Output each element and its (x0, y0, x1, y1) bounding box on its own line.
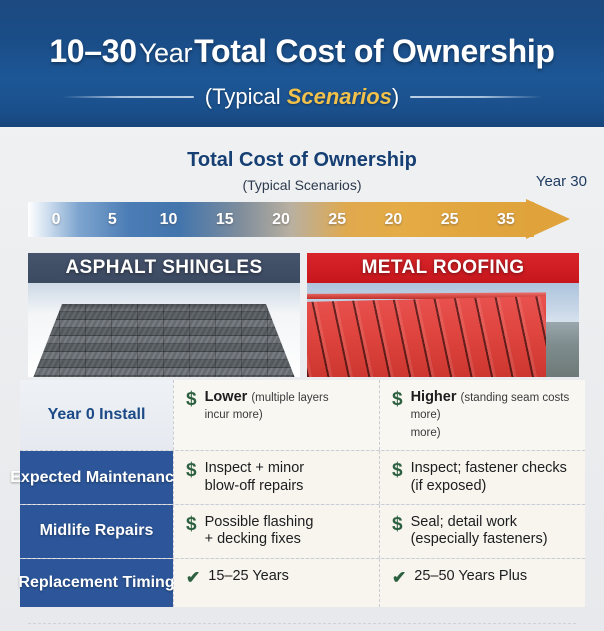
banner-subtitle-row: (Typical Scenarios) (0, 84, 604, 110)
check-mark-icon: ✔ (186, 568, 200, 588)
cost-timeline-arrow: 0 5 10 15 20 25 20 25 35 (28, 199, 588, 240)
title-year-word: Year (137, 38, 194, 68)
banner-subtitle: (Typical Scenarios) (205, 84, 399, 110)
cell-line-2: + decking fixes (205, 531, 301, 547)
cell-metal-expected-maintenance: $ Inspect; fastener checks(if exposed) (379, 451, 585, 504)
check-mark-icon: ✔ (392, 568, 406, 588)
cell-line-1: Seal; detail work (411, 514, 517, 530)
panel-metal: METAL ROOFING (307, 253, 579, 377)
tick-value: 25 (422, 211, 478, 229)
title-year-range: 10–30 (49, 33, 137, 69)
cell-line-2: (if exposed) (411, 478, 487, 494)
cell-text: 25–50 Years Plus (414, 568, 527, 585)
table-row: Expected Maintenance $ Inspect + minorbl… (20, 451, 585, 505)
label-line-1: Midlife (40, 522, 91, 540)
label-line-2: Maintenance (86, 469, 183, 487)
bottom-divider (28, 622, 576, 624)
comparison-table: Year 0 Install $ Lower (multiple layersi… (20, 380, 585, 607)
cell-text: 15–25 Years (208, 568, 289, 585)
section-subtitle: (Typical Scenarios) (0, 177, 604, 193)
shingle-roof-surface (33, 304, 294, 377)
cell-metal-year-0-install: $ Higher (standing seam costs more)more) (379, 380, 585, 450)
dollar-sign-icon: $ (392, 389, 403, 411)
tick-value: 15 (197, 211, 253, 229)
cell-emphasis: Lower (205, 389, 248, 405)
subtitle-open: (Typical (205, 84, 287, 109)
tick-value: 35 (478, 211, 534, 229)
panel-asphalt: ASPHALT SHINGLES (28, 253, 300, 377)
row-label-year-0-install: Year 0 Install (20, 380, 173, 450)
header-banner: 10–30YearTotal Cost of Ownership (Typica… (0, 0, 604, 127)
metal-roof-surface (307, 296, 546, 377)
cell-note-2: more) (411, 427, 441, 439)
timeline-tick-labels: 0 5 10 15 20 25 20 25 35 (28, 202, 534, 237)
cell-text: Inspect + minorblow-off repairs (205, 460, 305, 495)
cell-line-2: blow-off repairs (205, 478, 304, 494)
cell-line-1: Possible flashing (205, 514, 314, 530)
asphalt-shingle-roof-photo (28, 283, 300, 377)
cell-line-1: Inspect + minor (205, 460, 305, 476)
cell-text: Lower (multiple layersincur more) (205, 389, 329, 424)
cell-note: (multiple layers (251, 392, 328, 404)
page-title: 10–30YearTotal Cost of Ownership (0, 33, 604, 70)
label-line-1: Replacement (18, 574, 118, 592)
cell-text: Seal; detail work(especially fasteners) (411, 514, 548, 549)
shingle-texture (33, 304, 294, 377)
cell-metal-midlife-repairs: $ Seal; detail work(especially fasteners… (379, 505, 585, 558)
row-label-replacement-timing: Replacement Timing (20, 559, 173, 607)
label-line-2: Repairs (95, 522, 154, 540)
cell-line-2: (especially fasteners) (411, 531, 548, 547)
tick-value: 20 (253, 211, 309, 229)
cell-note-2: incur more) (205, 409, 263, 421)
infographic-page: 10–30YearTotal Cost of Ownership (Typica… (0, 0, 604, 631)
dollar-sign-icon: $ (392, 460, 403, 482)
table-row: Midlife Repairs $ Possible flashing+ dec… (20, 505, 585, 559)
comparison-photo-panels: ASPHALT SHINGLES METAL ROOFING (28, 253, 579, 377)
cell-asphalt-replacement-timing: ✔ 15–25 Years (173, 559, 379, 607)
dollar-sign-icon: $ (392, 514, 403, 536)
cell-line-1: Inspect; fastener checks (411, 460, 567, 476)
section-title: Total Cost of Ownership (0, 149, 604, 172)
cell-asphalt-midlife-repairs: $ Possible flashing+ decking fixes (173, 505, 379, 558)
cell-asphalt-expected-maintenance: $ Inspect + minorblow-off repairs (173, 451, 379, 504)
table-row: Year 0 Install $ Lower (multiple layersi… (20, 380, 585, 451)
red-standing-seam-metal-roof-photo (307, 283, 579, 377)
dollar-sign-icon: $ (186, 460, 197, 482)
rule-left-divider (62, 96, 194, 98)
cell-line-1: 25–50 Years Plus (414, 568, 527, 584)
cell-text: Higher (standing seam costs more)more) (411, 389, 576, 441)
subtitle-close: ) (392, 84, 399, 109)
cell-metal-replacement-timing: ✔ 25–50 Years Plus (379, 559, 585, 607)
tick-value: 10 (140, 211, 196, 229)
timeline-end-label: Year 30 (536, 173, 587, 190)
dollar-sign-icon: $ (186, 514, 197, 536)
panel-caption-metal: METAL ROOFING (307, 253, 579, 283)
subtitle-highlight: Scenarios (287, 84, 392, 109)
cell-emphasis: Higher (411, 389, 457, 405)
cell-text: Possible flashing+ decking fixes (205, 514, 314, 549)
tick-value: 25 (309, 211, 365, 229)
label-line-1: Expected (10, 469, 81, 487)
row-label-expected-maintenance: Expected Maintenance (20, 451, 173, 504)
tick-value: 20 (365, 211, 421, 229)
tick-value: 5 (84, 211, 140, 229)
cell-text: Inspect; fastener checks(if exposed) (411, 460, 567, 495)
cell-asphalt-year-0-install: $ Lower (multiple layersincur more) (173, 380, 379, 450)
title-main: Total Cost of Ownership (194, 33, 555, 69)
row-label-midlife-repairs: Midlife Repairs (20, 505, 173, 558)
rule-right-divider (410, 96, 542, 98)
tick-value: 0 (28, 211, 84, 229)
table-row: Replacement Timing ✔ 15–25 Years ✔ 25–50… (20, 559, 585, 607)
label-line-2: Timing (122, 574, 174, 592)
panel-caption-asphalt: ASPHALT SHINGLES (28, 253, 300, 283)
cell-line-1: 15–25 Years (208, 568, 289, 584)
dollar-sign-icon: $ (186, 389, 197, 411)
